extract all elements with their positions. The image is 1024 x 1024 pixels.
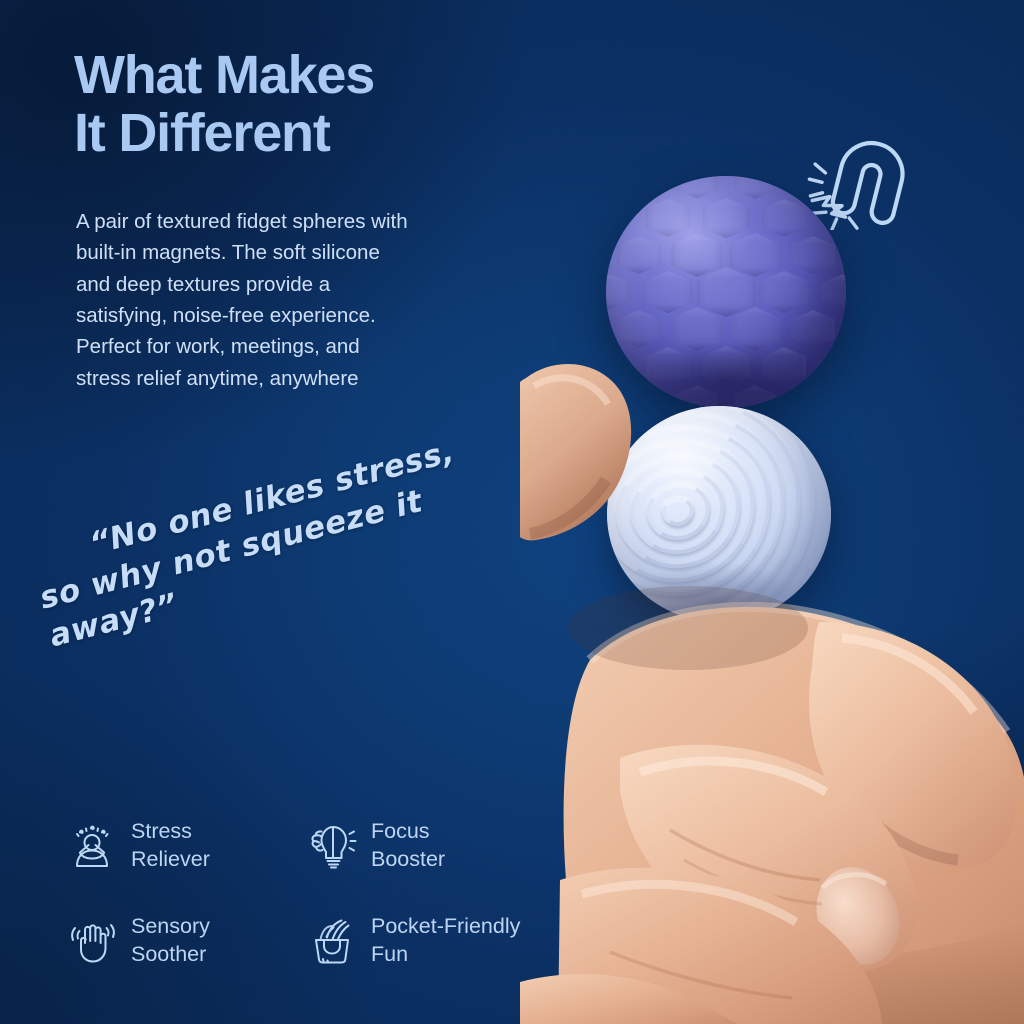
feature-stress-reliever[interactable]: Stress Reliever bbox=[66, 798, 298, 893]
feature-label: Focus Booster bbox=[371, 818, 445, 872]
vibrating-hand-icon bbox=[66, 915, 118, 967]
sphere-shading bbox=[606, 176, 846, 408]
sphere-shading bbox=[607, 406, 831, 622]
horseshoe-magnet-icon bbox=[806, 122, 936, 230]
hand-in-pocket-icon bbox=[306, 915, 358, 967]
brain-lightbulb-icon bbox=[306, 820, 358, 872]
feature-focus-booster[interactable]: Focus Booster bbox=[306, 798, 558, 893]
description-text: A pair of textured fidget spheres with b… bbox=[76, 206, 526, 394]
page-title: What Makes It Different bbox=[74, 46, 594, 163]
feature-pocket-friendly-fun[interactable]: Pocket-Friendly Fun bbox=[306, 893, 558, 988]
stressed-person-icon bbox=[66, 820, 118, 872]
feature-sensory-soother[interactable]: Sensory Soother bbox=[66, 893, 298, 988]
feature-label: Pocket-Friendly Fun bbox=[371, 913, 520, 967]
purple-fidget-sphere bbox=[606, 176, 846, 408]
product-feature-card: What Makes It Different A pair of textur… bbox=[0, 0, 1024, 1024]
feature-list: Stress Reliever Focus Booster bbox=[66, 798, 586, 988]
feature-label: Stress Reliever bbox=[131, 818, 210, 872]
feature-label: Sensory Soother bbox=[131, 913, 210, 967]
blue-fidget-sphere bbox=[607, 406, 831, 622]
